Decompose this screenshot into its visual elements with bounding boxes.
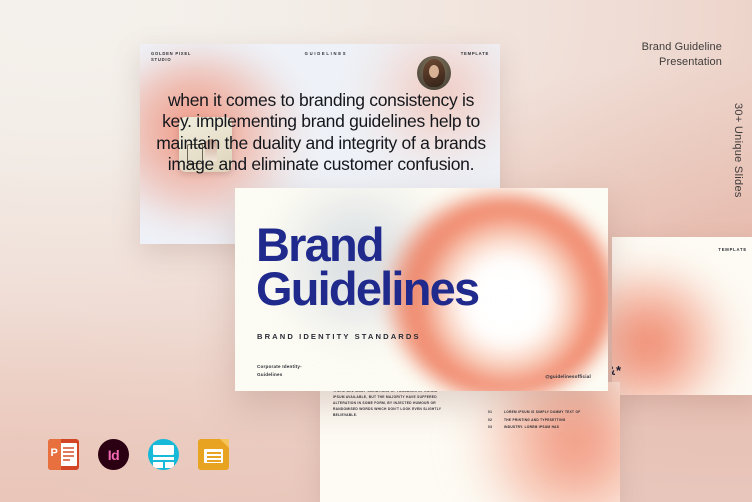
slide-back-template-label: TEMPLATE: [461, 51, 489, 56]
studio-line2: STUDIO: [151, 57, 191, 63]
powerpoint-icon-shape: P: [48, 439, 79, 470]
indesign-icon[interactable]: Id: [98, 439, 129, 470]
keynote-bar: [153, 457, 174, 460]
slide-right-symbols: #$%^&*: [612, 363, 622, 378]
gradient-blob-orange-info: [460, 382, 620, 502]
powerpoint-icon[interactable]: P: [48, 439, 79, 470]
avatar-face: [429, 65, 439, 78]
list-item-number: 02: [488, 418, 497, 422]
keynote-icon[interactable]: [148, 439, 179, 470]
footer-line1: Corporate Identity-: [257, 363, 302, 371]
list-item: 03 INDUSTRY. LOREM IPSUM HAS: [488, 425, 616, 429]
slide-main-handle: @guidelinesofficial: [545, 374, 591, 379]
vertical-note: 30+ Unique Slides: [732, 103, 744, 198]
slide-info-list: 01 LOREM IPSUM IS SIMPLY DUMMY TEXT OF 0…: [488, 410, 616, 433]
indesign-icon-shape: Id: [98, 439, 129, 470]
header-note: Brand Guideline Presentation: [642, 40, 722, 70]
google-slides-corner: [220, 439, 229, 448]
list-item: 01 LOREM IPSUM IS SIMPLY DUMMY TEXT OF: [488, 410, 616, 414]
list-item-number: 01: [488, 410, 497, 414]
indesign-letters: Id: [108, 448, 119, 462]
header-note-line1: Brand Guideline: [642, 40, 722, 55]
header-note-line2: Presentation: [642, 55, 722, 70]
slide-back-studio-label: GOLDEN PIXEL STUDIO: [151, 51, 191, 64]
title-line2: Guidelines: [256, 267, 478, 311]
powerpoint-card: [60, 443, 77, 466]
footer-line2: Guidelines: [257, 371, 302, 379]
slide-right-template-label: TEMPLATE: [718, 247, 747, 252]
google-slides-icon[interactable]: [198, 439, 229, 470]
google-slides-doc: [204, 449, 223, 463]
slide-right[interactable]: TEMPLATE #$%^&*: [612, 237, 752, 395]
slide-main[interactable]: Brand Guidelines BRAND IDENTITY STANDARD…: [235, 188, 608, 391]
slide-back-center-label: GUIDELINES: [191, 51, 461, 56]
page-title: Brand Guidelines: [256, 223, 478, 310]
slide-info[interactable]: THERE ARE MANY VARIATIONS OF PASSAGES OF…: [320, 382, 620, 502]
slide-info-paragraph: THERE ARE MANY VARIATIONS OF PASSAGES OF…: [333, 388, 445, 418]
list-item-number: 03: [488, 425, 497, 429]
keynote-base-gap: [163, 462, 165, 470]
list-item-text: INDUSTRY. LOREM IPSUM HAS: [504, 425, 559, 429]
keynote-icon-shape: [148, 439, 179, 470]
google-slides-icon-shape: [198, 439, 229, 470]
gradient-blob-orange-right: [612, 263, 744, 395]
slide-main-subtitle: BRAND IDENTITY STANDARDS: [257, 332, 421, 341]
slide-main-footer: Corporate Identity- Guidelines: [257, 363, 302, 379]
list-item-text: LOREM IPSUM IS SIMPLY DUMMY TEXT OF: [504, 410, 581, 414]
slide-back-body-text: when it comes to branding consistency is…: [156, 90, 486, 175]
avatar: [417, 56, 451, 90]
app-icons-row: P Id: [48, 439, 229, 470]
list-item: 02 THE PRINTING AND TYPESETTING: [488, 418, 616, 422]
powerpoint-letter: P: [51, 448, 58, 459]
keynote-screen: [153, 445, 174, 455]
list-item-text: THE PRINTING AND TYPESETTING: [504, 418, 566, 422]
